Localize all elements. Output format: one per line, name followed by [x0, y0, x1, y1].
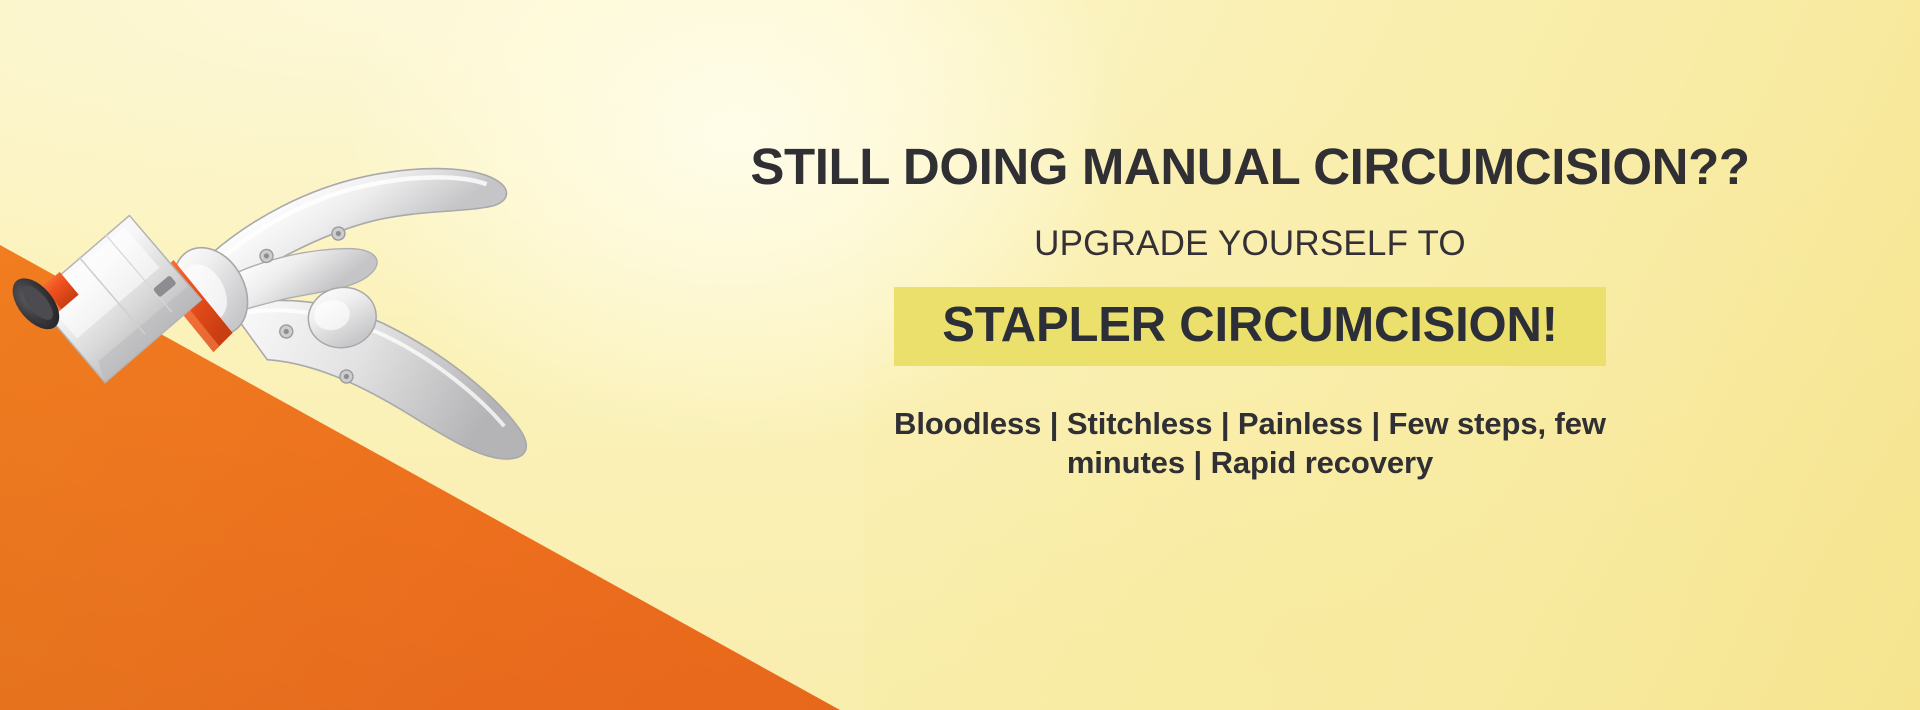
highlight-box: STAPLER CIRCUMCISION! [894, 287, 1606, 366]
banner-benefits-list: Bloodless | Stitchless | Painless | Few … [845, 405, 1655, 483]
banner-headline: STILL DOING MANUAL CIRCUMCISION?? [750, 140, 1749, 194]
highlight-box-wrapper: STAPLER CIRCUMCISION! [600, 287, 1900, 366]
banner-subheading: UPGRADE YOURSELF TO [1034, 225, 1466, 264]
banner-text-column: STILL DOING MANUAL CIRCUMCISION?? UPGRAD… [600, 0, 1900, 710]
promotional-banner: STILL DOING MANUAL CIRCUMCISION?? UPGRAD… [0, 0, 1920, 710]
highlight-text: STAPLER CIRCUMCISION! [942, 298, 1558, 352]
